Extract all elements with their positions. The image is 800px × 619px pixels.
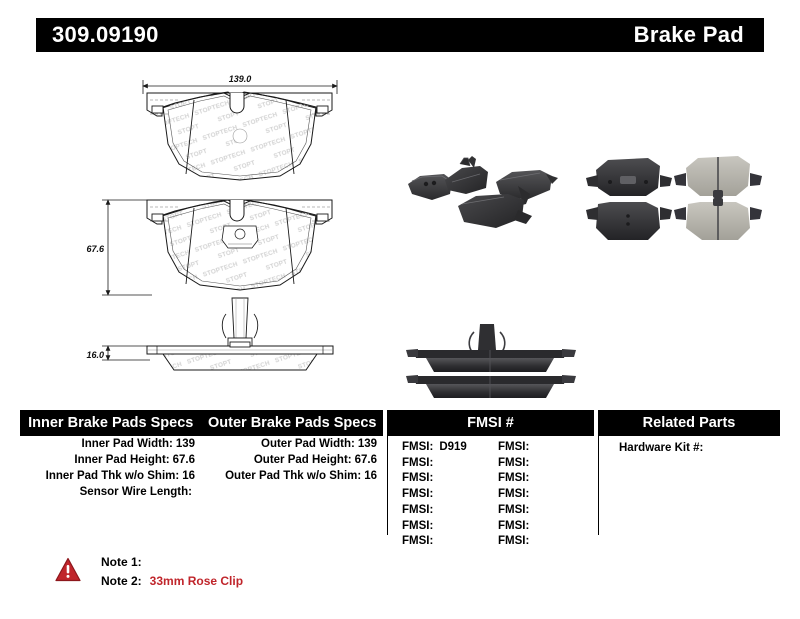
fmsi-label: FMSI: bbox=[402, 441, 433, 453]
spec-row: Sensor Wire Length: bbox=[20, 484, 201, 500]
fmsi-label: FMSI: bbox=[498, 472, 529, 484]
fmsi-row: FMSI: bbox=[498, 503, 594, 519]
spec-label: Inner Pad Width: bbox=[82, 438, 173, 450]
header-pad-specs: Inner Brake Pads Specs Outer Brake Pads … bbox=[20, 410, 383, 436]
spec-value: 16 bbox=[361, 470, 377, 482]
fmsi-label: FMSI: bbox=[402, 535, 433, 547]
note-1-label: Note 1: bbox=[101, 555, 142, 569]
note-2-value: 33mm Rose Clip bbox=[142, 574, 243, 588]
note-1-value bbox=[142, 555, 150, 569]
spec-row: Outer Pad Height:67.6 bbox=[201, 452, 383, 468]
pad-edge-view: 16.0 bbox=[86, 342, 333, 370]
fmsi-label: FMSI: bbox=[402, 472, 433, 484]
fmsi-label: FMSI: bbox=[498, 504, 529, 516]
fmsi-value bbox=[433, 504, 439, 516]
fmsi-row: FMSI: bbox=[498, 534, 594, 550]
fmsi-row: FMSI: bbox=[498, 440, 594, 456]
fmsi-row: FMSI: bbox=[498, 487, 594, 503]
photo-pad-backing-bottom bbox=[586, 202, 672, 240]
dimension-height bbox=[102, 200, 152, 295]
fmsi-label: FMSI: bbox=[498, 441, 529, 453]
wear-sensor-detail bbox=[222, 226, 258, 248]
spec-value: 67.6 bbox=[170, 454, 195, 466]
spec-value: 139 bbox=[173, 438, 195, 450]
spec-label: Outer Pad Width: bbox=[261, 438, 355, 450]
fmsi-label: FMSI: bbox=[498, 535, 529, 547]
fmsi-row: FMSI: bbox=[402, 534, 498, 550]
title-bar: 309.09190 Brake Pad bbox=[36, 18, 764, 52]
related-parts-body: Hardware Kit #: bbox=[598, 436, 780, 535]
fmsi-label: FMSI: bbox=[498, 488, 529, 500]
fmsi-value bbox=[529, 520, 535, 532]
outer-specs-body: Outer Pad Width:139 Outer Pad Height:67.… bbox=[201, 436, 383, 484]
fmsi-value bbox=[529, 488, 535, 500]
fmsi-value bbox=[433, 472, 439, 484]
dimension-thickness-label: 16.0 bbox=[86, 350, 104, 360]
fmsi-row: FMSI: bbox=[498, 456, 594, 472]
hardware-kit-label: Hardware Kit #: bbox=[619, 442, 703, 454]
fmsi-value bbox=[529, 472, 535, 484]
fmsi-row: FMSI: bbox=[402, 503, 498, 519]
fmsi-body: FMSI:D919 FMSI: FMSI: FMSI: FMSI: FMSI: bbox=[387, 436, 594, 535]
dimension-width-label: 139.0 bbox=[229, 74, 252, 84]
spec-row: Outer Pad Thk w/o Shim:16 bbox=[201, 468, 383, 484]
fmsi-value bbox=[529, 441, 535, 453]
spec-row: Outer Pad Width:139 bbox=[201, 436, 383, 452]
pad-middle-plan-view: 67.6 bbox=[86, 200, 332, 295]
fmsi-label: FMSI: bbox=[498, 457, 529, 469]
fmsi-value bbox=[529, 457, 535, 469]
fmsi-value bbox=[529, 504, 535, 516]
photo-pad-with-sensor-clip bbox=[445, 156, 488, 194]
fmsi-row: FMSI: bbox=[402, 456, 498, 472]
fmsi-row: FMSI: bbox=[402, 471, 498, 487]
fmsi-row: FMSI: bbox=[498, 519, 594, 535]
photo-sensor-clip bbox=[469, 324, 505, 352]
specifications-table: Inner Brake Pads Specs Outer Brake Pads … bbox=[20, 410, 780, 535]
product-photo-angled-group bbox=[400, 150, 582, 250]
photo-pad-bottom bbox=[458, 194, 532, 228]
pad-top-plan-view: 139.0 bbox=[143, 74, 337, 180]
fmsi-value: D919 bbox=[433, 441, 467, 453]
photo-pad-backing-top bbox=[586, 158, 672, 196]
fmsi-column-left: FMSI:D919 FMSI: FMSI: FMSI: FMSI: FMSI: bbox=[402, 440, 498, 550]
warning-triangle-icon bbox=[55, 557, 81, 583]
fmsi-column-right: FMSI: FMSI: FMSI: FMSI: FMSI: FMSI: bbox=[498, 440, 594, 550]
fmsi-label: FMSI: bbox=[402, 457, 433, 469]
note-row-1: Note 1: bbox=[101, 553, 243, 572]
fmsi-value bbox=[433, 520, 439, 532]
part-number: 309.09190 bbox=[36, 22, 159, 48]
product-photo-edge-view bbox=[396, 320, 586, 404]
note-row-2: Note 2:33mm Rose Clip bbox=[101, 572, 243, 591]
spec-value bbox=[192, 486, 195, 498]
fmsi-row: FMSI:D919 bbox=[402, 440, 498, 456]
technical-drawings-area: STOPTECH STOPTECH 139.0 bbox=[0, 58, 800, 388]
header-fmsi-label: FMSI # bbox=[467, 415, 514, 431]
spec-label: Inner Pad Height: bbox=[74, 454, 169, 466]
fmsi-row: FMSI: bbox=[402, 487, 498, 503]
spec-value: 16 bbox=[179, 470, 195, 482]
related-parts-row: Hardware Kit #: bbox=[599, 436, 780, 456]
fmsi-label: FMSI: bbox=[402, 504, 433, 516]
sensor-clip-drawing bbox=[222, 298, 258, 347]
spec-value: 67.6 bbox=[352, 454, 377, 466]
spec-row: Inner Pad Thk w/o Shim:16 bbox=[20, 468, 201, 484]
photo-pad-edge-lower bbox=[406, 375, 576, 398]
product-type-label: Brake Pad bbox=[634, 22, 764, 48]
fmsi-value bbox=[433, 457, 439, 469]
header-fmsi: FMSI # bbox=[387, 410, 594, 436]
photo-pad-left bbox=[408, 174, 452, 200]
header-inner-specs-label: Inner Brake Pads Specs bbox=[20, 415, 202, 431]
fmsi-label: FMSI: bbox=[402, 520, 433, 532]
header-outer-specs-label: Outer Brake Pads Specs bbox=[202, 415, 384, 431]
inner-specs-body: Inner Pad Width:139 Inner Pad Height:67.… bbox=[20, 436, 201, 500]
product-photo-pad-pairs bbox=[586, 150, 776, 250]
spec-label: Outer Pad Height: bbox=[254, 454, 352, 466]
spec-row: Inner Pad Height:67.6 bbox=[20, 452, 201, 468]
fmsi-row: FMSI: bbox=[498, 471, 594, 487]
fmsi-value bbox=[433, 488, 439, 500]
notes-section: Note 1: Note 2:33mm Rose Clip bbox=[55, 553, 243, 591]
spec-label: Inner Pad Thk w/o Shim: bbox=[46, 470, 180, 482]
spec-label: Outer Pad Thk w/o Shim: bbox=[225, 470, 361, 482]
note-2-label: Note 2: bbox=[101, 574, 142, 588]
header-related-parts-label: Related Parts bbox=[643, 415, 736, 431]
fmsi-label: FMSI: bbox=[402, 488, 433, 500]
photo-pad-friction-top bbox=[674, 156, 762, 198]
fmsi-value bbox=[529, 535, 535, 547]
spec-row: Inner Pad Width:139 bbox=[20, 436, 201, 452]
fmsi-label: FMSI: bbox=[498, 520, 529, 532]
dimension-thickness bbox=[102, 346, 150, 360]
fmsi-value bbox=[433, 535, 439, 547]
header-related-parts: Related Parts bbox=[598, 410, 780, 436]
photo-pad-friction-bottom bbox=[674, 198, 762, 240]
spec-value: 139 bbox=[355, 438, 377, 450]
dimension-height-label: 67.6 bbox=[86, 244, 105, 254]
photo-pad-edge-upper bbox=[406, 349, 576, 372]
spec-label: Sensor Wire Length: bbox=[80, 486, 192, 498]
fmsi-row: FMSI: bbox=[402, 519, 498, 535]
